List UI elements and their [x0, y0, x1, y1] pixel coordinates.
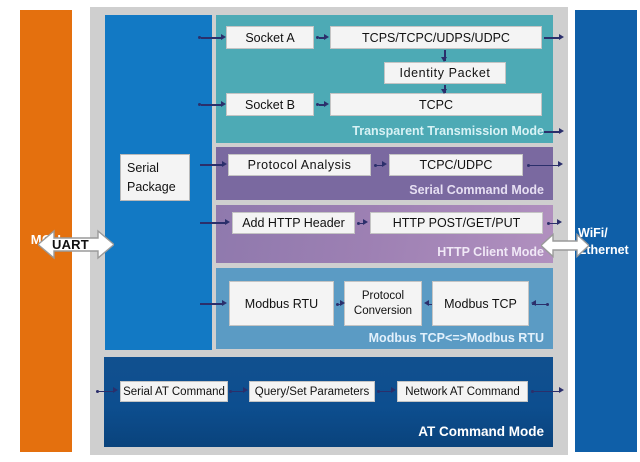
arrowhead-icon — [113, 387, 118, 393]
connector-serial-to-add-http — [200, 222, 225, 224]
connector-transparent-caption-out — [544, 131, 560, 133]
connector-tcpcudpc-to-network — [530, 165, 559, 167]
node-add-http-header: Add HTTP Header — [232, 212, 355, 234]
arrowhead-icon — [324, 101, 329, 107]
connector-serial-to-socket-a — [201, 37, 221, 39]
arrowhead-icon — [559, 128, 564, 134]
arrowhead-icon — [363, 219, 368, 225]
node-protocol-stack: TCPS/TCPC/UDPS/UDPC — [330, 26, 542, 49]
mode-caption-at-command: AT Command Mode — [418, 424, 544, 439]
connector-network-at-out — [534, 391, 560, 393]
node-serial-at-command: Serial AT Command — [120, 381, 228, 402]
arrowhead-icon — [557, 219, 562, 225]
arrowhead-icon — [221, 101, 226, 107]
arrowhead-icon — [391, 387, 396, 393]
arrowhead-icon — [222, 300, 227, 306]
node-tcpc-udpc: TCPC/UDPC — [389, 154, 523, 176]
diagram-canvas: MCU WiFi/ Ethernet Serial Package Transp… — [0, 0, 640, 462]
arrowhead-icon — [382, 161, 387, 167]
protocol-conversion-line1: Protocol — [354, 289, 412, 304]
connector-serial-to-protocol-analysis — [200, 164, 222, 166]
mode-caption-serial-command: Serial Command Mode — [409, 183, 544, 197]
mode-caption-modbus: Modbus TCP<=>Modbus RTU — [369, 331, 544, 345]
arrowhead-icon — [222, 161, 227, 167]
node-query-set-parameters: Query/Set Parameters — [249, 381, 375, 402]
node-modbus-tcp: Modbus TCP — [432, 281, 529, 326]
arrowhead-icon — [243, 387, 248, 393]
node-identity-packet: Identity Packet — [384, 62, 506, 84]
node-tcpc: TCPC — [330, 93, 542, 116]
uart-label: UART — [52, 237, 89, 252]
node-socket-b: Socket B — [226, 93, 314, 116]
arrowhead-icon — [441, 89, 447, 94]
arrowhead-icon — [225, 219, 230, 225]
arrowhead-icon — [340, 300, 345, 306]
mode-block-at-command: AT Command Mode — [104, 357, 553, 447]
node-network-at-command: Network AT Command — [397, 381, 528, 402]
arrowhead-icon — [221, 34, 226, 40]
arrowhead-icon — [558, 161, 563, 167]
connector-stack-to-network — [544, 37, 560, 39]
connector-panel-to-serial-at — [99, 391, 113, 393]
mode-caption-transparent: Transparent Transmission Mode — [352, 124, 544, 138]
arrowhead-icon — [531, 300, 536, 306]
connector-serial-to-modbus-rtu — [200, 303, 222, 305]
arrowhead-icon — [559, 34, 564, 40]
arrowhead-icon — [324, 34, 329, 40]
node-http-methods: HTTP POST/GET/PUT — [370, 212, 543, 234]
arrowhead-icon — [559, 387, 564, 393]
node-protocol-analysis: Protocol Analysis — [228, 154, 371, 176]
serial-package-line2: Package — [127, 178, 176, 197]
serial-package-line1: Serial — [127, 159, 159, 178]
mode-caption-http-client: HTTP Client Mode — [437, 245, 544, 259]
protocol-conversion-line2: Conversion — [354, 304, 412, 319]
connector-serial-to-socket-b — [201, 104, 221, 106]
node-socket-a: Socket A — [226, 26, 314, 49]
serial-package-node: Serial Package — [120, 154, 190, 201]
node-protocol-conversion: Protocol Conversion — [344, 281, 422, 326]
node-modbus-rtu: Modbus RTU — [229, 281, 334, 326]
arrowhead-icon — [441, 57, 447, 62]
network-bus-arrow — [541, 232, 589, 259]
connector-conversion-to-tcp — [428, 304, 432, 306]
